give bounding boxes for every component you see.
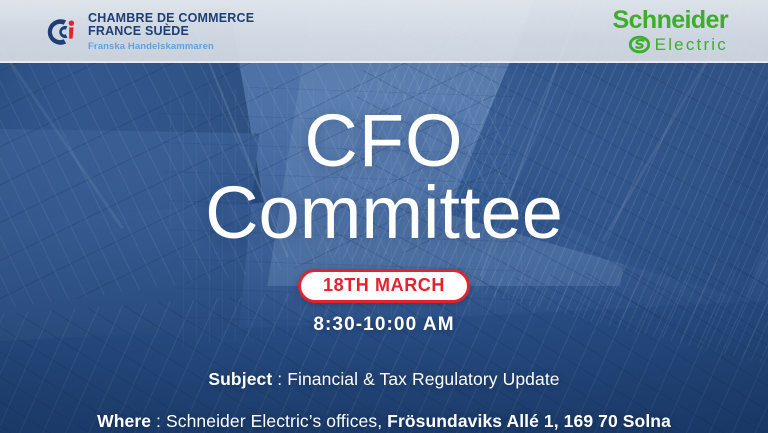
subject-label: Subject <box>208 369 272 389</box>
schneider-wordmark: Schneider <box>613 8 728 33</box>
event-poster: CHAMBRE DE COMMERCE FRANCE SUÈDE Franska… <box>0 0 768 433</box>
event-time: 8:30-10:00 AM <box>313 314 454 336</box>
cci-c-and-i-mark-icon <box>44 15 78 49</box>
subject-line: Subject : Financial & Tax Regulatory Upd… <box>208 369 559 390</box>
where-separator: : <box>151 411 166 431</box>
schneider-logo: Schneider Electric <box>613 8 728 55</box>
where-value: Schneider Electric’s offices, <box>166 411 387 431</box>
header-band: CHAMBRE DE COMMERCE FRANCE SUÈDE Franska… <box>0 0 768 63</box>
schneider-sub-wordmark: Electric <box>655 36 728 54</box>
poster-content: CFO Committee 18TH MARCH 8:30-10:00 AM S… <box>0 63 768 433</box>
event-title-line-2: Committee <box>205 177 563 249</box>
cci-line-2: FRANCE SUÈDE <box>88 25 254 39</box>
cci-logo-text: CHAMBRE DE COMMERCE FRANCE SUÈDE Franska… <box>88 12 254 52</box>
cci-logo: CHAMBRE DE COMMERCE FRANCE SUÈDE Franska… <box>44 12 254 52</box>
event-title-line-1: CFO <box>304 99 463 182</box>
schneider-s-mark-icon <box>629 34 650 55</box>
subject-value: Financial & Tax Regulatory Update <box>287 369 559 389</box>
event-title: CFO Committee <box>205 105 563 249</box>
schneider-sub-row: Electric <box>629 34 728 55</box>
where-label: Where <box>97 411 151 431</box>
cci-subtitle: Franska Handelskammaren <box>88 42 254 52</box>
date-badge: 18TH MARCH <box>298 269 470 303</box>
subject-separator: : <box>272 369 287 389</box>
where-address: Frösundaviks Allé 1, 169 70 Solna <box>387 411 671 431</box>
where-line: Where : Schneider Electric’s offices, Fr… <box>97 411 671 432</box>
